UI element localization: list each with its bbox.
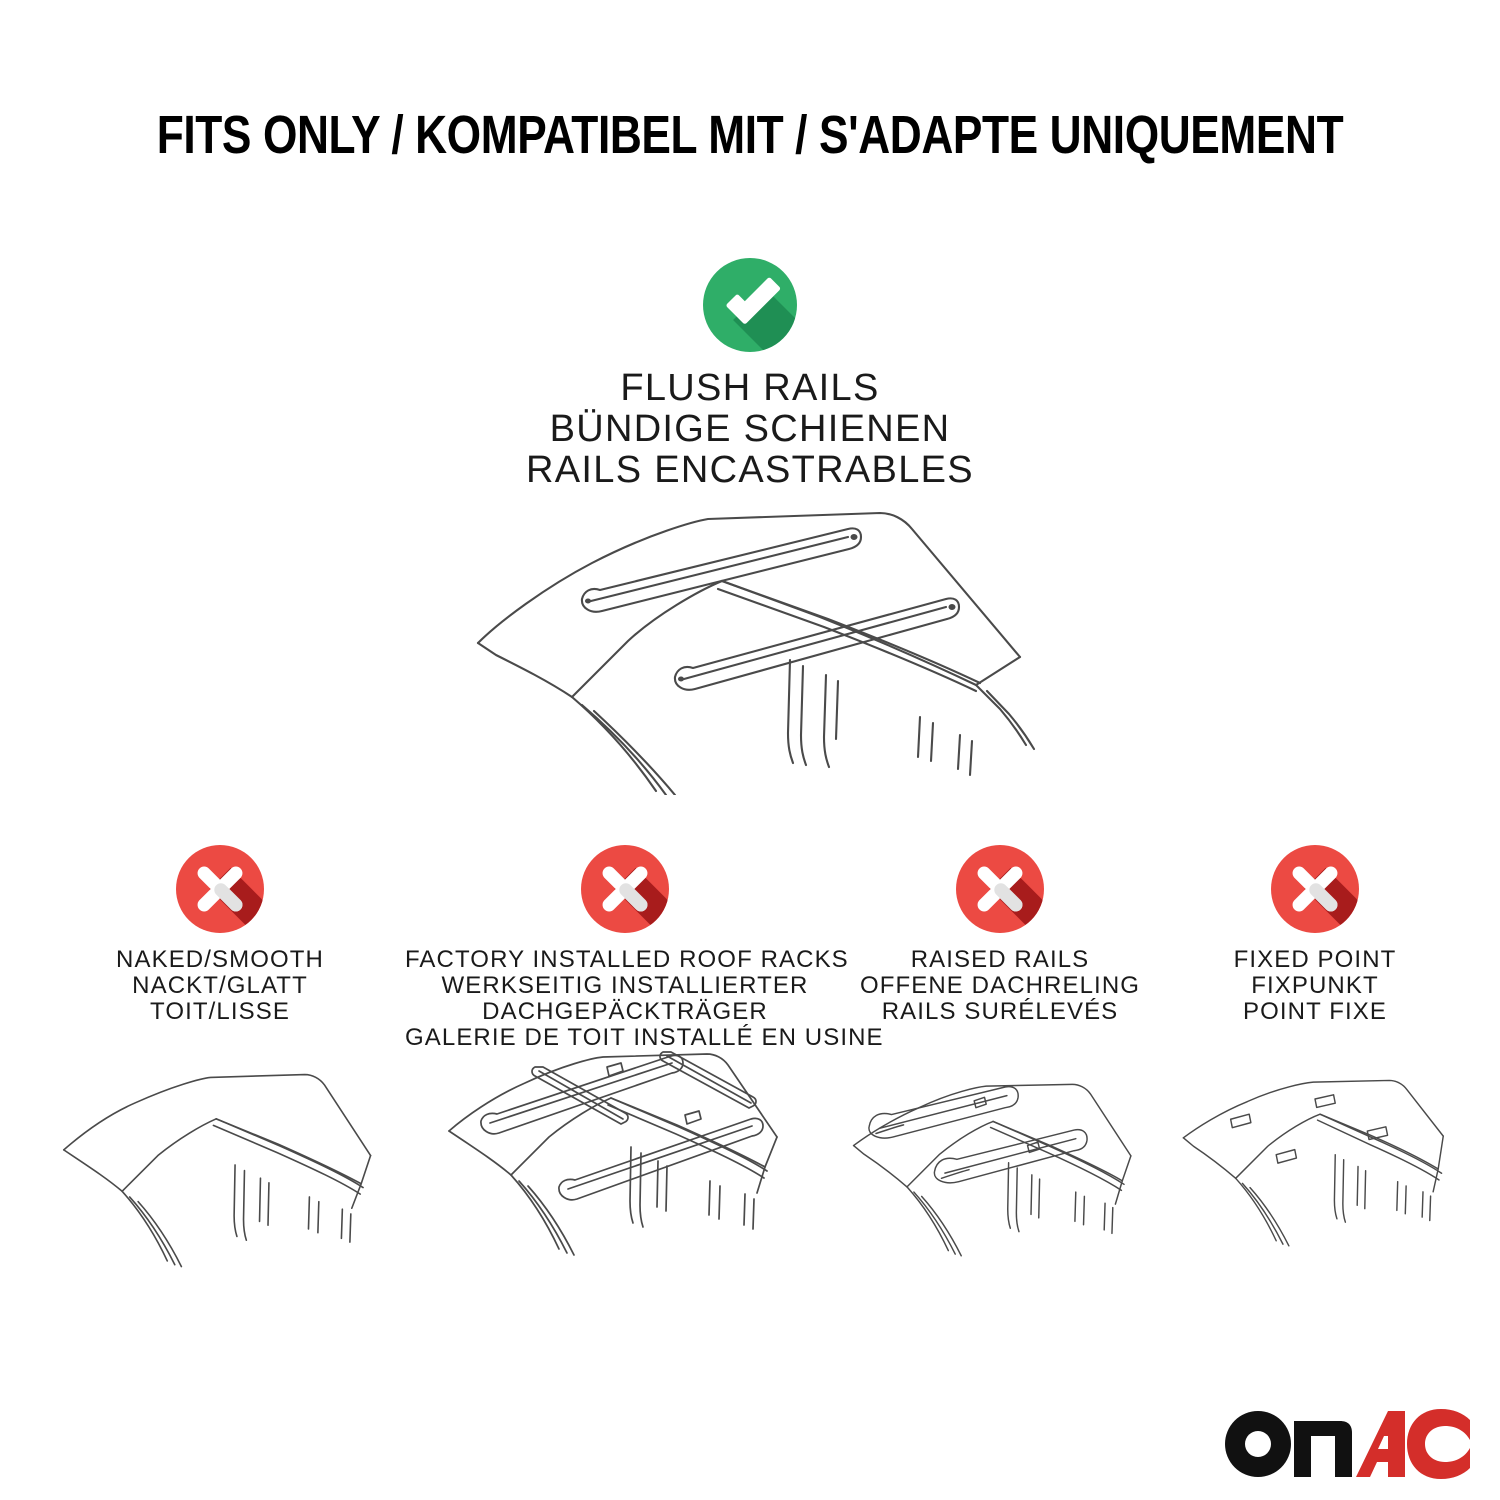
label-fr: RAILS SURÉLEVÉS <box>845 999 1155 1025</box>
compatible-label-en: FLUSH RAILS <box>0 368 1500 409</box>
car-roof-fixed-point-drawing <box>1180 1060 1450 1300</box>
incompatible-labels: FACTORY INSTALLED ROOF RACKS WERKSEITIG … <box>405 947 845 1051</box>
omac-logo <box>1222 1404 1472 1480</box>
incompatible-item-naked-smooth: NAKED/SMOOTH NACKT/GLATT TOIT/LISSE <box>60 845 380 1025</box>
compatible-label-de: BÜNDIGE SCHIENEN <box>0 409 1500 450</box>
compatible-label-fr: RAILS ENCASTRABLES <box>0 450 1500 491</box>
cross-circle-icon <box>176 845 264 933</box>
label-de: OFFENE DACHRELING <box>845 973 1155 999</box>
cross-circle-icon <box>581 845 669 933</box>
page-title: FITS ONLY / KOMPATIBEL MIT / S'ADAPTE UN… <box>135 104 1365 166</box>
incompatible-labels: RAISED RAILS OFFENE DACHRELING RAILS SUR… <box>845 947 1155 1025</box>
label-en: FACTORY INSTALLED ROOF RACKS <box>405 947 845 973</box>
incompatible-item-raised-rails: RAISED RAILS OFFENE DACHRELING RAILS SUR… <box>845 845 1155 1025</box>
label-de: NACKT/GLATT <box>60 973 380 999</box>
label-fr: POINT FIXE <box>1180 999 1450 1025</box>
incompatible-labels: FIXED POINT FIXPUNKT POINT FIXE <box>1180 947 1450 1025</box>
label-en: NAKED/SMOOTH <box>60 947 380 973</box>
logo-letter-o <box>1225 1411 1291 1477</box>
incompatible-item-factory-roof-racks: FACTORY INSTALLED ROOF RACKS WERKSEITIG … <box>405 845 845 1051</box>
car-roof-naked-smooth-drawing <box>60 1060 380 1300</box>
label-en: FIXED POINT <box>1180 947 1450 973</box>
incompatible-labels: NAKED/SMOOTH NACKT/GLATT TOIT/LISSE <box>60 947 380 1025</box>
cross-circle-icon <box>956 845 1044 933</box>
car-roof-raised-rails-drawing <box>845 1060 1155 1300</box>
label-fr: TOIT/LISSE <box>60 999 380 1025</box>
label-en: RAISED RAILS <box>845 947 1155 973</box>
logo-letter-c <box>1407 1409 1470 1479</box>
car-roof-factory-installed-roof-racks-drawing <box>405 1045 845 1285</box>
incompatible-item-fixed-point: FIXED POINT FIXPUNKT POINT FIXE <box>1180 845 1450 1025</box>
compatible-labels: FLUSH RAILS BÜNDIGE SCHIENEN RAILS ENCAS… <box>0 368 1500 491</box>
check-circle-icon <box>703 258 797 352</box>
car-roof-with-flush-rails-drawing <box>460 495 1060 795</box>
incompatible-sections: NAKED/SMOOTH NACKT/GLATT TOIT/LISSE <box>0 845 1500 1145</box>
label-de-1: WERKSEITIG INSTALLIERTER <box>405 973 845 999</box>
compatible-section: FLUSH RAILS BÜNDIGE SCHIENEN RAILS ENCAS… <box>0 258 1500 491</box>
cross-circle-icon <box>1271 845 1359 933</box>
logo-letter-m <box>1294 1421 1352 1477</box>
label-de-2: DACHGEPÄCKTRÄGER <box>405 999 845 1025</box>
label-de: FIXPUNKT <box>1180 973 1450 999</box>
logo-letter-a <box>1356 1411 1405 1477</box>
